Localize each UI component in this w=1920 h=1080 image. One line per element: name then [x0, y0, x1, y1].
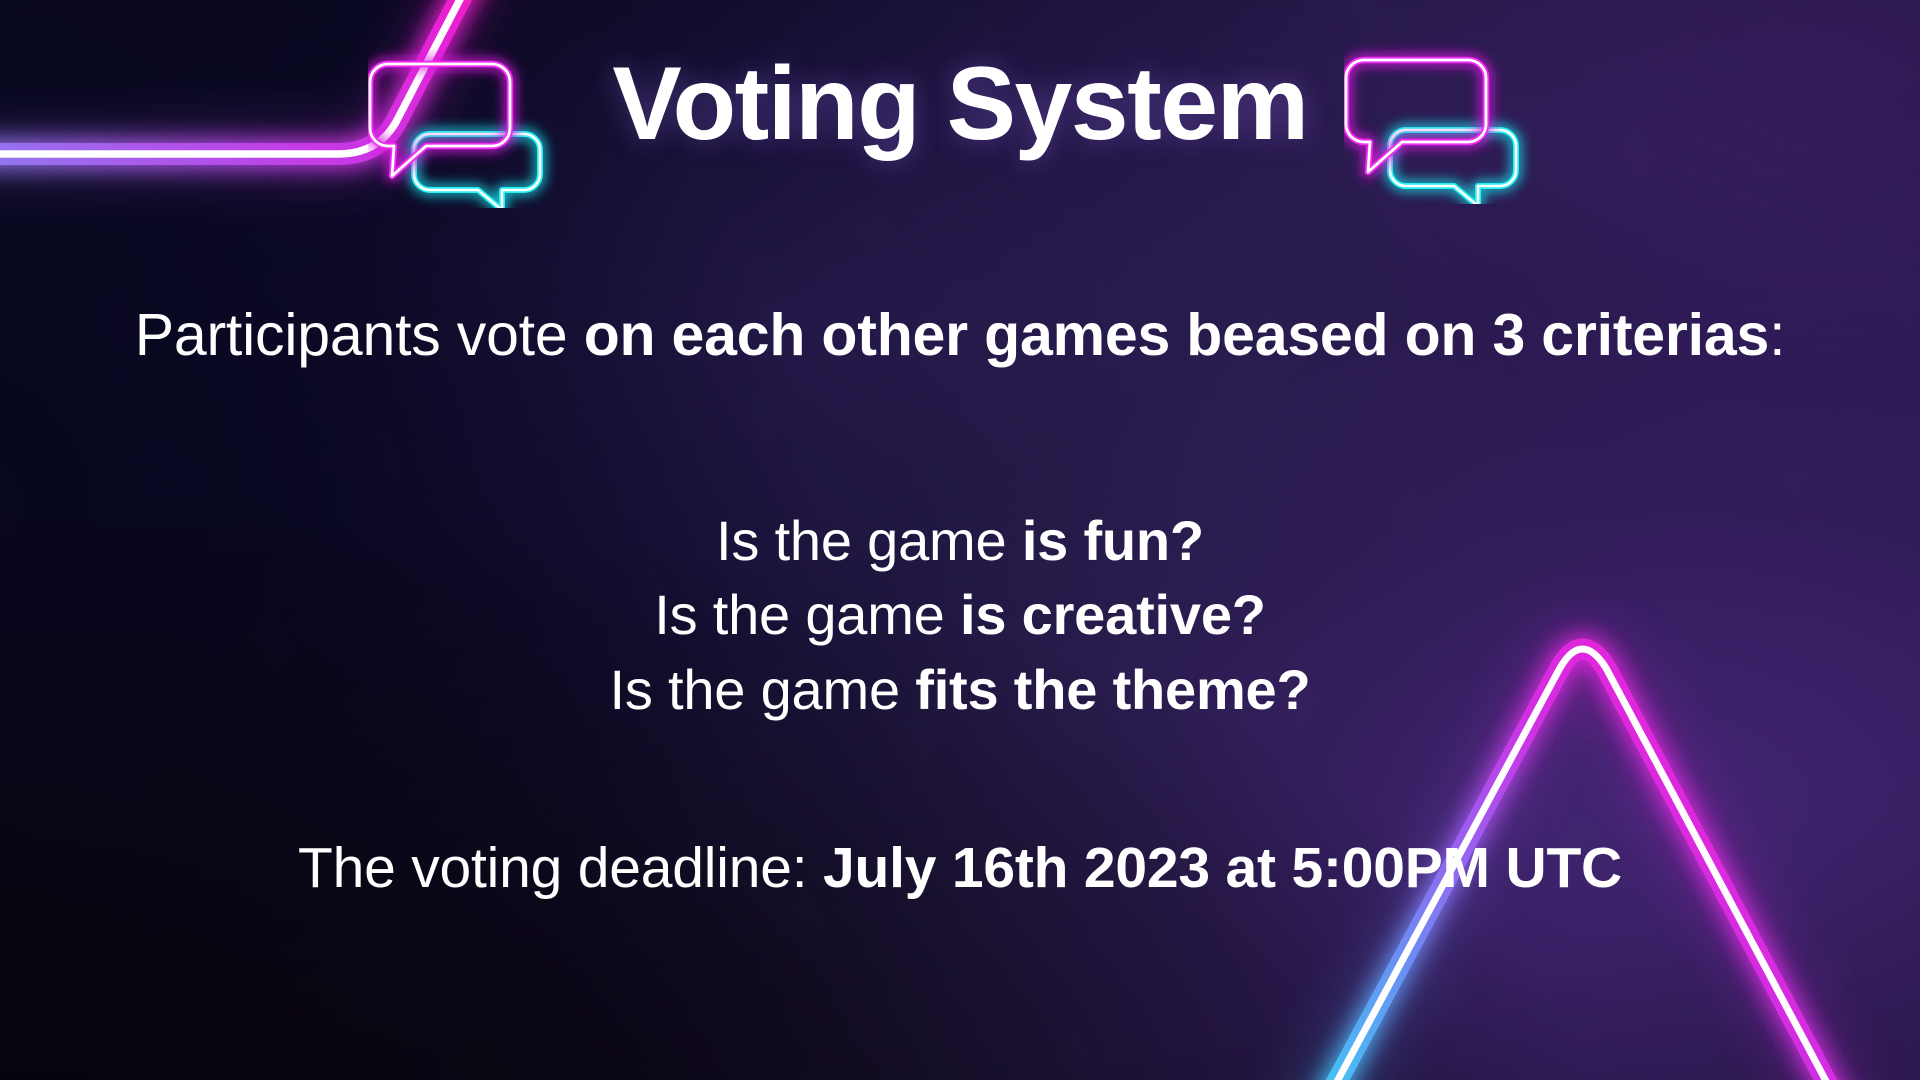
intro-bold-text: on each other games beased on 3 criteria…	[584, 302, 1769, 368]
intro-suffix-text: :	[1769, 302, 1785, 368]
criteria-normal-text: Is the game	[609, 658, 915, 721]
criteria-item: Is the game fits the theme?	[0, 653, 1920, 727]
intro-normal-text: Participants vote	[135, 302, 584, 368]
criteria-bold-text: fits the theme?	[915, 658, 1310, 721]
criteria-bold-text: is fun?	[1022, 509, 1204, 572]
title-row: Voting System	[0, 52, 1920, 156]
criteria-bold-text: is creative?	[960, 583, 1266, 646]
page-title: Voting System	[612, 52, 1307, 156]
deadline-label: The voting deadline:	[298, 836, 823, 900]
criteria-item: Is the game is creative?	[0, 578, 1920, 652]
slide-root: Voting System Participants vote on each …	[0, 0, 1920, 1080]
deadline-line: The voting deadline: July 16th 2023 at 5…	[0, 835, 1920, 901]
criteria-normal-text: Is the game	[654, 583, 960, 646]
intro-paragraph: Participants vote on each other games be…	[0, 300, 1920, 372]
criteria-normal-text: Is the game	[716, 509, 1022, 572]
criteria-item: Is the game is fun?	[0, 504, 1920, 578]
criteria-list: Is the game is fun? Is the game is creat…	[0, 504, 1920, 727]
deadline-value: July 16th 2023 at 5:00PM UTC	[823, 836, 1622, 900]
slide-body: Participants vote on each other games be…	[0, 300, 1920, 901]
